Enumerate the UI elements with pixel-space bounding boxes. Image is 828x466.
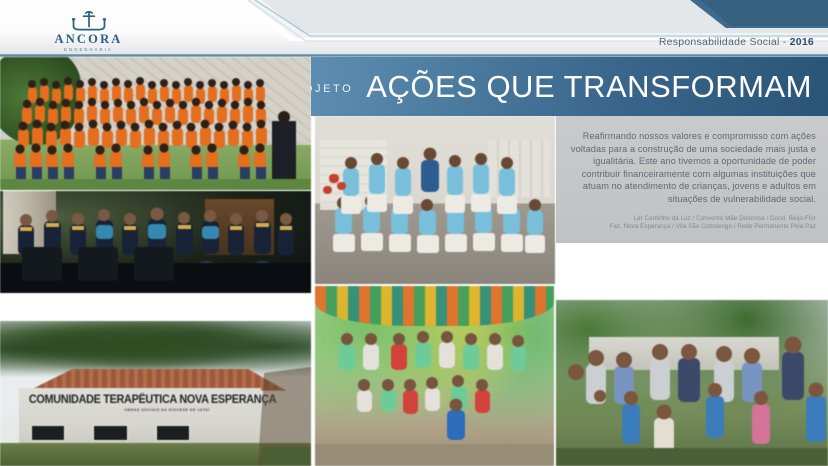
family-group-people (556, 300, 828, 466)
logo-tagline: ENGENHARIA (64, 47, 113, 53)
slide-title-band: PROJETO AÇÕES QUE TRANSFORMAM (311, 57, 828, 116)
photo-wheelchair-group (0, 191, 311, 293)
logo-wordmark: ANCORA (54, 33, 122, 46)
party-children-people (315, 286, 554, 466)
credits-line-1: Lar Caminho da Luz / Convento Mãe Doloro… (568, 215, 816, 223)
institutions-credits: Lar Caminho da Luz / Convento Mãe Doloro… (568, 215, 816, 232)
brand-logo[interactable]: ANCORA ENGENHARIA (36, 10, 141, 54)
description-panel: Reafirmando nossos valores e compromisso… (556, 116, 828, 243)
credits-line-2: Faz. Nova Esperança / Vila São Cottoleng… (568, 223, 816, 231)
slide-root: ANCORA ENGENHARIA Responsabilidade Socia… (0, 0, 828, 466)
title-kicker: PROJETO (311, 83, 353, 95)
blue-group-people (315, 116, 555, 284)
casa-foreground (0, 321, 311, 466)
photo-orange-group (0, 57, 311, 190)
orange-group-people (0, 57, 311, 190)
header-meta-label: Responsabilidade Social - (659, 36, 790, 48)
photo-blue-group (315, 116, 555, 284)
anchor-icon (67, 10, 111, 32)
wheelchair-group-people (0, 191, 311, 293)
photo-family-group (556, 300, 828, 466)
description-body: Reafirmando nossos valores e compromisso… (568, 130, 816, 206)
photo-party-children (315, 286, 554, 466)
photo-casa-nova-esperanca: COMUNIDADE TERAPÊUTICA NOVA ESPERANÇA OB… (0, 321, 311, 466)
slide-header: ANCORA ENGENHARIA Responsabilidade Socia… (0, 0, 828, 57)
header-meta-year: 2016 (790, 36, 814, 48)
header-meta: Responsabilidade Social - 2016 (659, 36, 814, 48)
page-title: AÇÕES QUE TRANSFORMAM (366, 69, 812, 105)
